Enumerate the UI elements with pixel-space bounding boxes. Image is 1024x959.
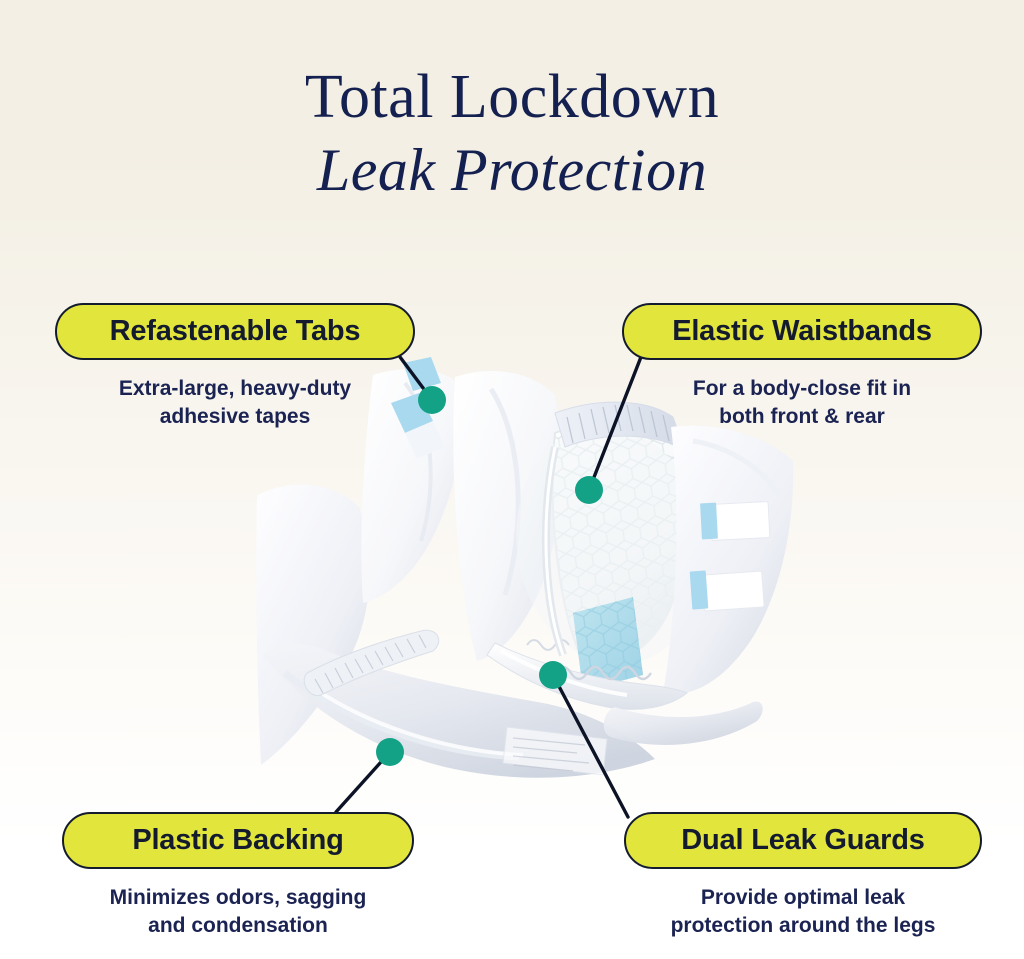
description-plastic-backing: Minimizes odors, sagging and condensatio… (62, 884, 414, 940)
badge-plastic-backing[interactable]: Plastic Backing (62, 812, 414, 869)
description-dual-leak-guards: Provide optimal leak protection around t… (624, 884, 982, 940)
description-line-2: adhesive tapes (55, 403, 415, 431)
badge-label-plastic-backing: Plastic Backing (132, 824, 343, 857)
badge-dual-leak-guards[interactable]: Dual Leak Guards (624, 812, 982, 869)
page-title: Total Lockdown Leak Protection (0, 66, 1024, 207)
description-elastic-waistbands: For a body-close fit in both front & rea… (622, 375, 982, 431)
description-line-2: both front & rear (622, 403, 982, 431)
title-line-primary: Total Lockdown (0, 66, 1024, 128)
callout-dual-leak-guards: Dual Leak Guards Provide optimal leak pr… (624, 812, 982, 940)
description-line-1: Extra-large, heavy-duty (55, 375, 415, 403)
badge-elastic-waistbands[interactable]: Elastic Waistbands (622, 303, 982, 360)
badge-label-elastic-waistbands: Elastic Waistbands (672, 315, 932, 348)
title-line-secondary: Leak Protection (0, 134, 1024, 207)
infographic-canvas: Total Lockdown Leak Protection (0, 0, 1024, 959)
callout-elastic-waistbands: Elastic Waistbands For a body-close fit … (622, 303, 982, 431)
badge-label-refastenable-tabs: Refastenable Tabs (110, 315, 361, 348)
description-refastenable-tabs: Extra-large, heavy-duty adhesive tapes (55, 375, 415, 431)
description-line-1: For a body-close fit in (622, 375, 982, 403)
description-line-2: and condensation (62, 912, 414, 940)
callout-refastenable-tabs: Refastenable Tabs Extra-large, heavy-dut… (55, 303, 415, 431)
description-line-2: protection around the legs (624, 912, 982, 940)
description-line-1: Provide optimal leak (624, 884, 982, 912)
callout-plastic-backing: Plastic Backing Minimizes odors, sagging… (62, 812, 414, 940)
description-line-1: Minimizes odors, sagging (62, 884, 414, 912)
badge-refastenable-tabs[interactable]: Refastenable Tabs (55, 303, 415, 360)
badge-label-dual-leak-guards: Dual Leak Guards (681, 824, 924, 857)
